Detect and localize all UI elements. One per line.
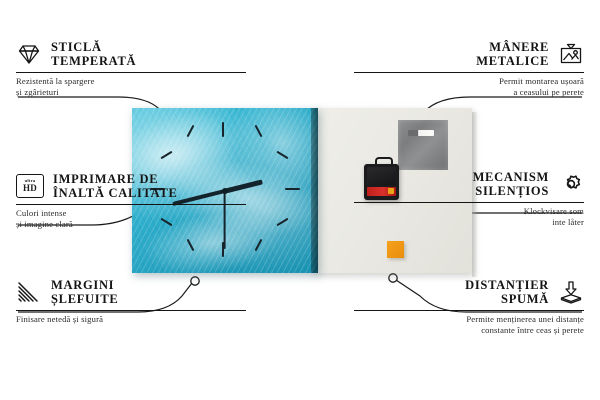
feature-title-line1: MÂNERE	[476, 40, 549, 54]
feature-title-line1: DISTANȚIER	[465, 278, 549, 292]
feature-desc-line2: și zgârieturi	[16, 87, 246, 98]
feature-rule	[354, 72, 584, 73]
polished-edge-icon	[16, 280, 42, 304]
feature-title-line2: SILENȚIOS	[473, 184, 549, 198]
feature-title-line1: IMPRIMARE DE	[53, 172, 178, 186]
metal-hanger-plate	[398, 120, 448, 170]
feature-title-line1: MARGINI	[51, 278, 118, 292]
foam-spacer	[387, 241, 404, 258]
feature-rule	[354, 202, 584, 203]
feature-tempered-glass: STICLĂ TEMPERATĂ Rezistentă la spargere …	[16, 40, 246, 99]
feature-rule	[354, 310, 584, 311]
feature-title-line1: STICLĂ	[51, 40, 136, 54]
feature-title-line2: METALICE	[476, 54, 549, 68]
feature-title-line2: ÎNALTĂ CALITATE	[53, 186, 178, 200]
badge-hd-text: HD	[23, 184, 37, 193]
arrow-down-layer-icon	[558, 280, 584, 304]
feature-desc-line2: a ceasului pe perete	[354, 87, 584, 98]
feature-title-line2: ȘLEFUITE	[51, 292, 118, 306]
feature-desc-line1: Culori intense	[16, 208, 246, 219]
clock-tick	[222, 122, 224, 137]
diamond-icon	[16, 42, 42, 66]
feature-desc-line2: constante între ceas și perete	[354, 325, 584, 336]
feature-title-line1: MECANISM	[473, 170, 549, 184]
feature-desc-line1: Permit montarea ușoară	[354, 76, 584, 87]
feature-title-line2: SPUMĂ	[465, 292, 549, 306]
feature-desc-line2: și imagine clară	[16, 219, 246, 230]
infographic-canvas: STICLĂ TEMPERATĂ Rezistentă la spargere …	[0, 0, 600, 400]
ultra-hd-badge-icon: ultra HD	[16, 174, 44, 198]
feature-title-line2: TEMPERATĂ	[51, 54, 136, 68]
feature-metal-handles: MÂNERE METALICE Permit montarea ușoară a…	[354, 40, 584, 99]
feature-desc-line1: Finisare netedă și sigură	[16, 314, 246, 325]
feature-hd-print: ultra HD IMPRIMARE DE ÎNALTĂ CALITATE Cu…	[16, 172, 246, 231]
feature-desc-line2: inte låter	[354, 217, 584, 228]
feature-silent-mechanism: MECANISM SILENȚIOS Klockvisare som inte …	[354, 170, 584, 229]
feature-desc-line1: Klockvisare som	[354, 206, 584, 217]
picture-hanger-icon	[558, 42, 584, 66]
hanger-slot	[408, 130, 434, 136]
feature-desc-line1: Rezistentă la spargere	[16, 76, 246, 87]
feature-rule	[16, 310, 246, 311]
feature-foam-spacer: DISTANȚIER SPUMĂ Permite menținerea unei…	[354, 278, 584, 337]
feature-rule	[16, 204, 246, 205]
feature-desc-line1: Permite menținerea unei distanțe	[354, 314, 584, 325]
gear-icon	[558, 172, 584, 196]
feature-polished-edges: MARGINI ȘLEFUITE Finisare netedă și sigu…	[16, 278, 246, 325]
feature-rule	[16, 72, 246, 73]
